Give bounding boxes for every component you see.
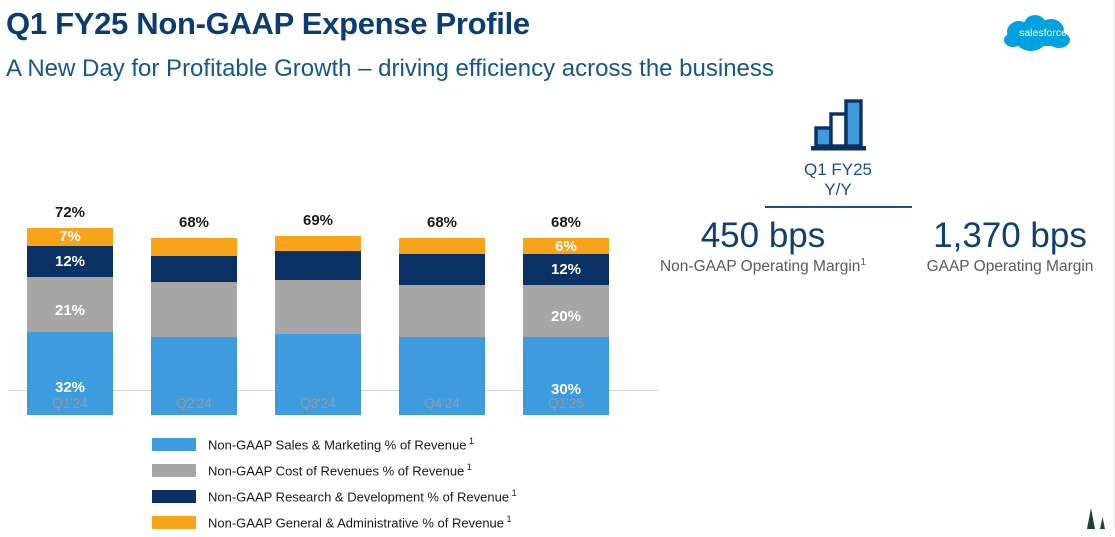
bar-segment-label: 21% [55, 303, 85, 318]
bar-total-label: 68% [151, 214, 237, 231]
kpi-label-text: Non-GAAP Operating Margin [660, 258, 860, 275]
bar-segment-label: 12% [55, 254, 85, 269]
kpi-period-line2: Y/Y [760, 180, 916, 200]
bar-stack: 7%12%21%32% [27, 228, 113, 415]
legend-swatch [152, 464, 196, 477]
x-axis-label: Q1'24 [27, 396, 113, 411]
bar-column: 6%12%20%30%68% [523, 175, 609, 415]
bar-total-label: 68% [399, 214, 485, 231]
bar-segment-navy: 12% [523, 254, 609, 285]
bar-segment-orange [399, 238, 485, 254]
bar-stack: 6%12%20%30% [523, 238, 609, 415]
kpi-label: Non-GAAP Operating Margin1 [618, 257, 908, 276]
kpi-gaap-operating-margin: 1,370 bps GAAP Operating Margin [905, 218, 1115, 276]
kpi-value: 1,370 bps [905, 218, 1115, 255]
kpi-period-line1: Q1 FY25 [760, 160, 916, 180]
page-title: Q1 FY25 Non-GAAP Expense Profile [6, 6, 530, 42]
tree-decoration-icon [1078, 500, 1110, 529]
x-axis-label: Q4'24 [399, 396, 485, 411]
legend-footnote: 1 [509, 488, 517, 498]
legend-item[interactable]: Non-GAAP Cost of Revenues % of Revenue 1 [152, 459, 517, 481]
legend-footnote: 1 [504, 514, 512, 524]
bar-segment-navy: 12% [27, 246, 113, 277]
salesforce-logo: salesforce [1002, 12, 1084, 56]
bar-stack [275, 236, 361, 415]
kpi-label-footnote: 1 [860, 257, 866, 268]
kpi-period: Q1 FY25 Y/Y [760, 160, 916, 201]
bar-segment-label: 7% [59, 229, 81, 244]
bar-segment-navy [151, 256, 237, 282]
kpi-label: GAAP Operating Margin [905, 257, 1115, 276]
legend-footnote: 1 [466, 436, 474, 446]
legend-item[interactable]: Non-GAAP General & Administrative % of R… [152, 511, 517, 533]
bar-total-label: 68% [523, 214, 609, 231]
page-subtitle: A New Day for Profitable Growth – drivin… [6, 55, 774, 83]
x-axis-label: Q3'24 [275, 396, 361, 411]
bar-column: 68% [399, 175, 485, 415]
bar-total-label: 72% [27, 204, 113, 221]
legend-item[interactable]: Non-GAAP Research & Development % of Rev… [152, 485, 517, 507]
bar-column: 69% [275, 175, 361, 415]
bar-segment-orange [151, 238, 237, 256]
bar-segment-navy [275, 251, 361, 280]
x-axis-label: Q2'24 [151, 396, 237, 411]
bar-segment-label: 32% [55, 380, 85, 395]
legend-label: Non-GAAP Research & Development % of Rev… [208, 488, 517, 504]
bar-column: 68% [151, 175, 237, 415]
bar-segment-label: 12% [551, 262, 581, 277]
bar-segment-orange [275, 236, 361, 252]
bar-chart-icon [802, 94, 874, 154]
chart-legend: Non-GAAP Sales & Marketing % of Revenue … [152, 433, 517, 537]
bar-total-label: 69% [275, 212, 361, 229]
legend-swatch [152, 490, 196, 503]
bar-segment-label: 20% [551, 309, 581, 324]
kpi-non-gaap-operating-margin: 450 bps Non-GAAP Operating Margin1 [618, 218, 908, 276]
bar-segment-gray: 21% [27, 277, 113, 332]
legend-label: Non-GAAP Cost of Revenues % of Revenue 1 [208, 462, 472, 478]
legend-label: Non-GAAP General & Administrative % of R… [208, 514, 512, 530]
bar-segment-gray [275, 280, 361, 335]
x-axis-label: Q1'25 [523, 396, 609, 411]
legend-swatch [152, 516, 196, 529]
bar-stack [399, 238, 485, 415]
bar-segment-gray [399, 285, 485, 337]
bar-segment-label: 6% [555, 239, 577, 254]
legend-footnote: 1 [464, 462, 472, 472]
bar-column: 7%12%21%32%72% [27, 175, 113, 415]
expense-profile-chart: 7%12%21%32%72%68%69%68%6%12%20%30%68% Q1… [0, 150, 665, 415]
kpi-value: 450 bps [618, 218, 908, 255]
svg-text:salesforce: salesforce [1019, 27, 1067, 39]
bar-segment-gray [151, 282, 237, 337]
legend-swatch [152, 438, 196, 451]
legend-item[interactable]: Non-GAAP Sales & Marketing % of Revenue … [152, 433, 517, 455]
kpi-label-text: GAAP Operating Margin [927, 258, 1094, 275]
bar-segment-orange: 6% [523, 238, 609, 254]
kpi-divider [765, 206, 912, 208]
bar-segment-gray: 20% [523, 285, 609, 337]
bar-segment-navy [399, 254, 485, 285]
bar-stack [151, 238, 237, 415]
slide: Q1 FY25 Non-GAAP Expense Profile A New D… [0, 0, 1115, 529]
legend-label: Non-GAAP Sales & Marketing % of Revenue … [208, 436, 474, 452]
bar-segment-orange: 7% [27, 228, 113, 246]
